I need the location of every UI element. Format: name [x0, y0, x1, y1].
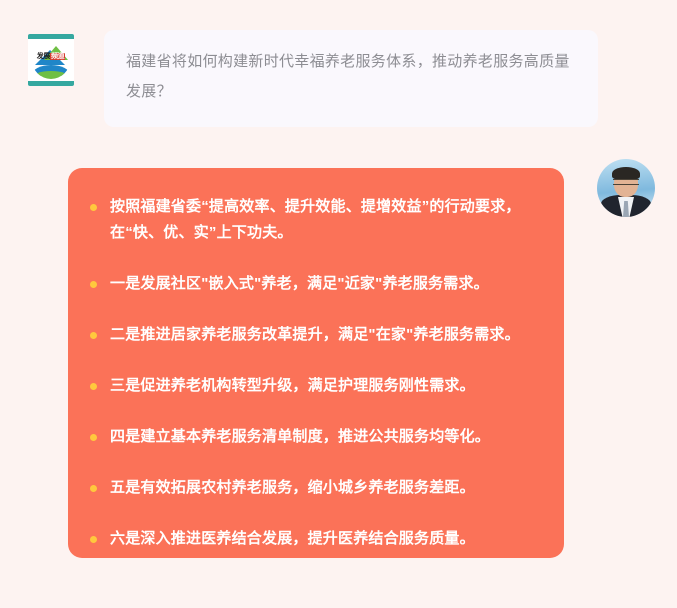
bullet-item: 六是深入推进医养结合发展，提升医养结合服务质量。	[88, 526, 538, 552]
bullet-dot-icon	[90, 332, 97, 339]
bullet-text: 三是促进养老机构转型升级，满足护理服务刚性需求。	[110, 373, 538, 399]
bullet-item: 二是推进居家养老服务改革提升，满足"在家"养老服务需求。	[88, 322, 538, 348]
bullet-text: 一是发展社区"嵌入式"养老，满足"近家"养老服务需求。	[110, 271, 538, 297]
bullet-item: 四是建立基本养老服务清单制度，推进公共服务均等化。	[88, 424, 538, 450]
bullet-dot-icon	[90, 204, 97, 211]
bullet-text: 四是建立基本养老服务清单制度，推进公共服务均等化。	[110, 424, 538, 450]
question-text: 福建省将如何构建新时代幸福养老服务体系，推动养老服务高质量发展？	[126, 47, 576, 107]
answer-card: 按照福建省委“提高效率、提升效能、提增效益”的行动要求，在“快、优、实”上下功夫…	[68, 168, 564, 558]
logo-wordmark: 发展频道	[28, 53, 74, 61]
answer-bullet-list: 按照福建省委“提高效率、提升效能、提增效益”的行动要求，在“快、优、实”上下功夫…	[88, 194, 538, 552]
bullet-dot-icon	[90, 536, 97, 543]
avatar-glasses-icon	[613, 179, 639, 185]
logo-word-right: 频道	[50, 53, 65, 60]
bullet-dot-icon	[90, 383, 97, 390]
bullet-item: 三是促进养老机构转型升级，满足护理服务刚性需求。	[88, 373, 538, 399]
bullet-dot-icon	[90, 281, 97, 288]
bullet-item: 五是有效拓展农村养老服务，缩小城乡养老服务差距。	[88, 475, 538, 501]
wave-green-icon	[32, 71, 70, 79]
bullet-item: 按照福建省委“提高效率、提升效能、提增效益”的行动要求，在“快、优、实”上下功夫…	[88, 194, 538, 246]
question-bubble: 福建省将如何构建新时代幸福养老服务体系，推动养老服务高质量发展？	[104, 30, 598, 127]
bullet-text: 二是推进居家养老服务改革提升，满足"在家"养老服务需求。	[110, 322, 538, 348]
bullet-text: 按照福建省委“提高效率、提升效能、提增效益”的行动要求，在“快、优、实”上下功夫…	[110, 194, 538, 246]
speaker-avatar	[597, 159, 655, 217]
asker-avatar: 发展频道	[28, 34, 74, 86]
bullet-dot-icon	[90, 485, 97, 492]
bullet-text: 五是有效拓展农村养老服务，缩小城乡养老服务差距。	[110, 475, 538, 501]
logo-word-left: 发展	[37, 53, 50, 60]
bullet-item: 一是发展社区"嵌入式"养老，满足"近家"养老服务需求。	[88, 271, 538, 297]
bullet-text: 六是深入推进医养结合发展，提升医养结合服务质量。	[110, 526, 538, 552]
bullet-dot-icon	[90, 434, 97, 441]
logo-top-bar	[28, 34, 74, 39]
logo-bottom-bar	[28, 81, 74, 86]
